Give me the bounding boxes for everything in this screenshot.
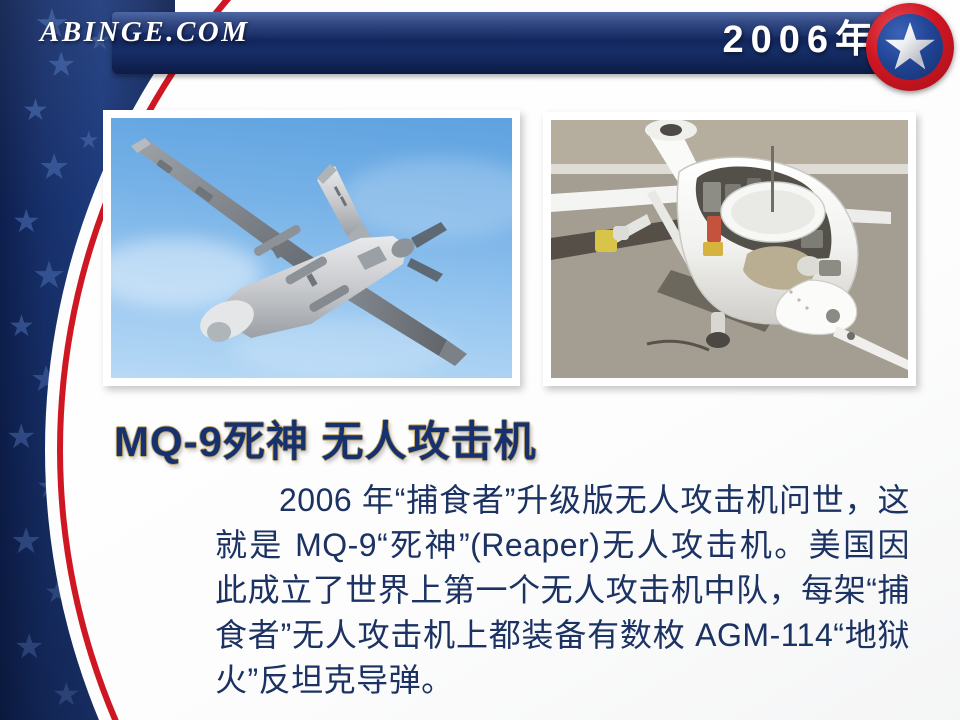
star-badge-icon (866, 3, 954, 91)
mq9-ground-illustration (551, 120, 908, 378)
badge-field (877, 14, 943, 80)
badge-star-shape (884, 21, 936, 73)
photo-inner (551, 120, 908, 378)
year-label: 2006年 (722, 8, 880, 63)
brand-wordmark: ABINGE.COM (40, 16, 250, 49)
photo-mq9-in-flight (103, 110, 520, 386)
photo-mq9-nose-open (543, 112, 916, 386)
page-title: MQ-9死神 无人攻击机 (114, 408, 537, 469)
mq9-aircraft-illustration (111, 118, 512, 378)
slide-canvas: ★ ★ ★ ★ ★ ★ ★ ★ ★ ★ ★ ★ ★ ★ ★ ★ ★ ★ ★ ★ … (0, 0, 960, 720)
body-paragraph: 2006 年“捕食者”升级版无人攻击机问世，这就是 MQ-9“死神”(Reape… (215, 478, 910, 703)
photo-inner (111, 118, 512, 378)
